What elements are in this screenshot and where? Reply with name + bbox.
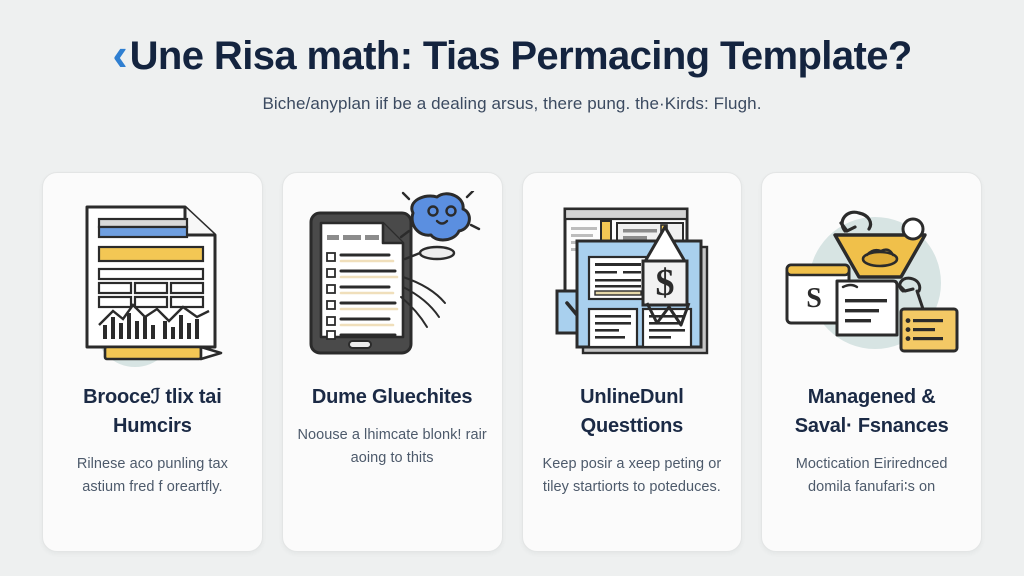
card-title: UnlineDunl Questtions bbox=[537, 383, 728, 441]
page-header: ‹ Une Risa math: Tias Permacing Template… bbox=[0, 0, 1024, 114]
svg-text:$: $ bbox=[655, 262, 674, 304]
feature-card[interactable]: Dume Gluechites Noouse a lhimcate blonk!… bbox=[282, 172, 503, 552]
feature-card[interactable]: Brooceℐ tlix tai Humcirs Rilnese aco pun… bbox=[42, 172, 263, 552]
tablet-checklist-with-cloud-icon bbox=[297, 191, 487, 369]
card-title: Managened & Saval· Fsnances bbox=[776, 383, 967, 441]
card-body: Noouse a lhimcate blonk! rair aoing to t… bbox=[297, 424, 488, 471]
page-title: Une Risa math: Tias Permacing Template? bbox=[130, 34, 912, 78]
page-subtitle: Biche/anyplan iif be a dealing arsus, th… bbox=[0, 94, 1024, 114]
card-body: Keep posir a xeep peting or tiley starti… bbox=[537, 453, 728, 500]
card-body: Rilnese aco punling tax astium fred f or… bbox=[57, 453, 248, 500]
svg-text:S: S bbox=[806, 283, 822, 314]
funnel-cards-note-icon: S bbox=[777, 191, 967, 369]
document-report-with-pencil-icon bbox=[57, 191, 247, 369]
chevron-left-icon[interactable]: ‹ bbox=[112, 31, 125, 77]
feature-card[interactable]: $ UnlineDunl Questtions Keep posir a xee… bbox=[522, 172, 743, 552]
title-row: ‹ Une Risa math: Tias Permacing Template… bbox=[0, 34, 1024, 78]
card-grid: Brooceℐ tlix tai Humcirs Rilnese aco pun… bbox=[42, 172, 982, 552]
card-title: Brooceℐ tlix tai Humcirs bbox=[57, 383, 248, 441]
feature-card[interactable]: S bbox=[761, 172, 982, 552]
card-body: Moctication Eirirednced domila fanufari∶… bbox=[776, 453, 967, 500]
page-root: ‹ Une Risa math: Tias Permacing Template… bbox=[0, 0, 1024, 576]
stacked-invoice-windows-dollar-icon: $ bbox=[537, 191, 727, 369]
card-title: Dume Gluechites bbox=[312, 383, 472, 412]
